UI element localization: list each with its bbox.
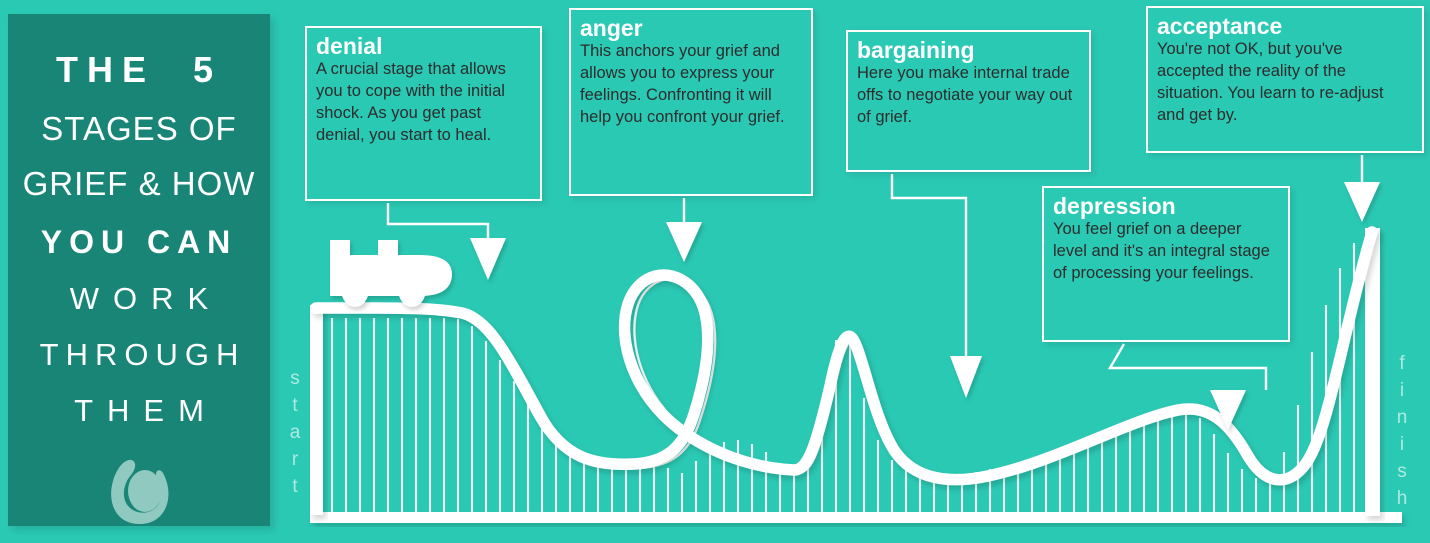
- callout-anger-title: anger: [580, 16, 811, 40]
- connector-bargaining: [892, 174, 966, 356]
- finish-letter-3: n: [1390, 404, 1414, 431]
- infographic-canvas: THE 5 STAGES OF GRIEF & HOW YOU CAN WORK…: [0, 0, 1430, 543]
- callout-acceptance-body: You're not OK, but you've accepted the r…: [1157, 39, 1413, 127]
- finish-letter-1: f: [1390, 350, 1414, 377]
- roller-coaster-car: [330, 240, 452, 307]
- finish-letter-4: i: [1390, 431, 1414, 458]
- finish-letter-6: h: [1390, 485, 1414, 512]
- callout-depression-title: depression: [1053, 194, 1288, 218]
- callout-bargaining-body: Here you make internal trade offs to neg…: [857, 63, 1080, 129]
- callout-denial: denial A crucial stage that allows you t…: [305, 26, 542, 201]
- connector-depression: [1110, 344, 1266, 390]
- callout-anger: anger This anchors your grief and allows…: [569, 8, 813, 196]
- arrow-depression: [1210, 390, 1246, 430]
- start-letter-3: a: [283, 419, 307, 446]
- callout-acceptance-title: acceptance: [1157, 14, 1422, 38]
- callout-denial-body: A crucial stage that allows you to cope …: [316, 59, 531, 147]
- connector-denial: [388, 203, 488, 238]
- callout-denial-title: denial: [316, 34, 540, 58]
- arrow-bargaining: [950, 356, 982, 398]
- finish-letter-5: s: [1390, 458, 1414, 485]
- arrow-denial: [470, 238, 506, 280]
- track-ground-baseline: [310, 512, 1402, 523]
- arrow-anger: [666, 222, 702, 262]
- callout-anger-body: This anchors your grief and allows you t…: [580, 41, 802, 129]
- finish-letter-2: i: [1390, 377, 1414, 404]
- start-letter-1: s: [283, 365, 307, 392]
- track-start-post: [310, 305, 323, 515]
- start-letter-4: r: [283, 446, 307, 473]
- start-letter-2: t: [283, 392, 307, 419]
- callout-depression: depression You feel grief on a deeper le…: [1042, 186, 1290, 342]
- track-finish-label: f i n i s h: [1390, 350, 1414, 512]
- track-finish-post: [1365, 228, 1380, 516]
- track-start-label: s t a r t: [283, 365, 307, 500]
- callout-bargaining-title: bargaining: [857, 38, 1089, 62]
- callout-depression-body: You feel grief on a deeper level and it'…: [1053, 219, 1279, 285]
- arrow-acceptance: [1344, 182, 1380, 222]
- start-letter-5: t: [283, 473, 307, 500]
- callout-bargaining: bargaining Here you make internal trade …: [846, 30, 1091, 172]
- callout-acceptance: acceptance You're not OK, but you've acc…: [1146, 6, 1424, 153]
